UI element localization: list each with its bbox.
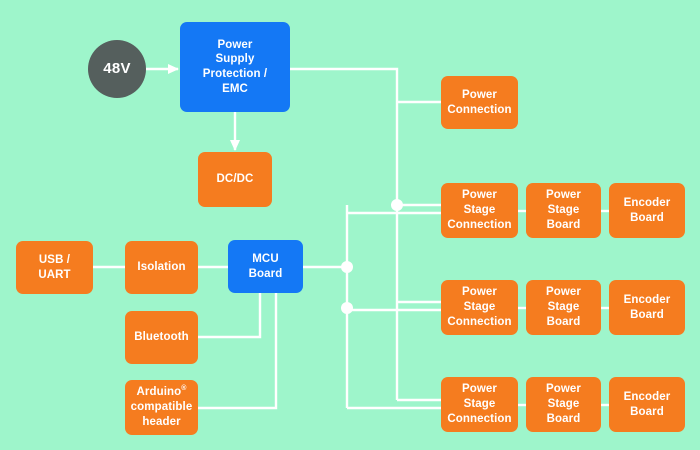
- junction-power-row1: [391, 199, 403, 211]
- node-power-supply[interactable]: Power Supply Protection / EMC: [180, 22, 290, 112]
- connection-bluetooth-to-mcu: [198, 293, 260, 337]
- node-label-usb-uart: USB / UART: [38, 253, 70, 282]
- node-psb-1[interactable]: Power Stage Board: [526, 183, 601, 238]
- connection-arduino-to-mcu: [198, 293, 276, 408]
- node-arduino-header[interactable]: Arduino® compatible header: [125, 380, 198, 435]
- node-isolation[interactable]: Isolation: [125, 241, 198, 294]
- node-label-enc-2: Encoder Board: [624, 293, 671, 322]
- node-enc-1[interactable]: Encoder Board: [609, 183, 685, 238]
- node-label-psb-1: Power Stage Board: [546, 188, 581, 232]
- node-label-psb-3: Power Stage Board: [546, 382, 581, 426]
- node-label-source-48v: 48V: [103, 59, 131, 78]
- node-label-psc-1: Power Stage Connection: [447, 188, 511, 232]
- connection-supply-to-bus: [290, 69, 397, 400]
- node-label-enc-1: Encoder Board: [624, 196, 671, 225]
- node-psb-3[interactable]: Power Stage Board: [526, 377, 601, 432]
- node-label-psc-3: Power Stage Connection: [447, 382, 511, 426]
- node-label-psb-2: Power Stage Board: [546, 285, 581, 329]
- node-enc-3[interactable]: Encoder Board: [609, 377, 685, 432]
- node-power-connection[interactable]: Power Connection: [441, 76, 518, 129]
- node-psb-2[interactable]: Power Stage Board: [526, 280, 601, 335]
- node-mcu-board[interactable]: MCU Board: [228, 240, 303, 293]
- node-label-psc-2: Power Stage Connection: [447, 285, 511, 329]
- node-label-arduino-header: Arduino® compatible header: [131, 385, 193, 429]
- node-label-dcdc: DC/DC: [217, 172, 254, 187]
- node-psc-3[interactable]: Power Stage Connection: [441, 377, 518, 432]
- node-psc-2[interactable]: Power Stage Connection: [441, 280, 518, 335]
- node-label-enc-3: Encoder Board: [624, 390, 671, 419]
- node-source-48v[interactable]: 48V: [88, 40, 146, 98]
- node-bluetooth[interactable]: Bluetooth: [125, 311, 198, 364]
- junction-dots: [341, 199, 403, 314]
- junction-signal-mcu: [341, 261, 353, 273]
- node-enc-2[interactable]: Encoder Board: [609, 280, 685, 335]
- node-label-bluetooth: Bluetooth: [134, 330, 189, 345]
- block-diagram: 48VPower Supply Protection / EMCDC/DCPow…: [0, 0, 700, 450]
- junction-signal-row2: [341, 302, 353, 314]
- registered-trademark-icon: ®: [181, 386, 186, 393]
- node-label-isolation: Isolation: [137, 260, 185, 275]
- node-dcdc[interactable]: DC/DC: [198, 152, 272, 207]
- node-label-power-supply: Power Supply Protection / EMC: [203, 38, 267, 97]
- node-label-mcu-board: MCU Board: [249, 252, 283, 281]
- node-label-power-connection: Power Connection: [447, 88, 511, 117]
- node-psc-1[interactable]: Power Stage Connection: [441, 183, 518, 238]
- node-usb-uart[interactable]: USB / UART: [16, 241, 93, 294]
